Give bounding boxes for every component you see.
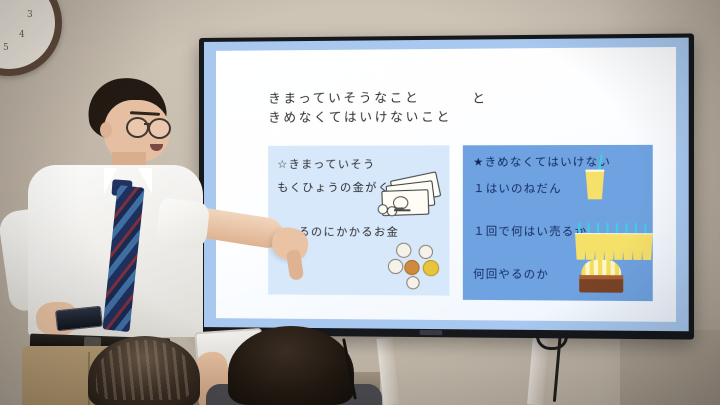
- glasses-lens-right: [148, 118, 171, 139]
- slide-title: きまっていそうなこと きめなくてはいけないこと: [268, 87, 452, 126]
- display-tv[interactable]: きまっていそうなこと きめなくてはいけないこと と ☆きまっていそう もくひょう…: [199, 33, 694, 339]
- coins-icon: [388, 243, 445, 288]
- teacher-ear: [100, 122, 112, 138]
- decisions-panel: ★きめなくてはいけない １はいのねだん １回で何はい売るか 何回やるのか: [463, 145, 653, 301]
- wall-baseboard: [620, 330, 720, 405]
- clock-numeral: 5: [3, 43, 9, 53]
- tv-brand-logo: [420, 330, 443, 335]
- classroom-scene: 2 3 4 5 きまっていそうなこと きめなくてはいけないこと と ☆きまってい…: [0, 0, 720, 405]
- banknotes-icon: [378, 176, 439, 219]
- clock-numeral: 4: [19, 30, 25, 40]
- settled-line-3: るのにかかるお金: [298, 223, 399, 239]
- glasses-bridge: [144, 123, 150, 125]
- presentation-slide: きまっていそうなこと きめなくてはいけないこと と ☆きまっていそう もくひょう…: [216, 47, 676, 322]
- slide-title-line1: きまっていそうなこと: [268, 87, 452, 107]
- decision-heading-text: きめなくてはいけない: [485, 155, 612, 168]
- glasses-lens-left: [126, 117, 149, 138]
- decision-line-2: １回で何はい売るか: [473, 223, 587, 240]
- star-icon: ★: [473, 155, 484, 168]
- decision-line-3: 何回やるのか: [473, 265, 549, 282]
- juice-cup-icon: [585, 170, 604, 200]
- clock-numeral: 3: [27, 10, 33, 20]
- decision-line-1: １はいのねだん: [473, 180, 562, 196]
- shirt-sleeve: [156, 198, 211, 251]
- settled-line-1: ☆きまっていそう: [277, 156, 375, 172]
- settled-line-2: もくひょうの金がく: [277, 179, 390, 195]
- juice-cup-row-icon: [575, 223, 653, 260]
- tv-screen[interactable]: きまっていそうなこと きめなくてはいけないこと と ☆きまっていそう もくひょう…: [204, 38, 689, 332]
- slide-title-line2: きめなくてはいけないこと: [268, 107, 452, 127]
- slide-title-conjunction: と: [472, 87, 487, 106]
- decision-heading: ★きめなくてはいけない: [473, 153, 611, 170]
- student-hair-highlights: [96, 340, 192, 400]
- market-stall-icon: [579, 260, 623, 295]
